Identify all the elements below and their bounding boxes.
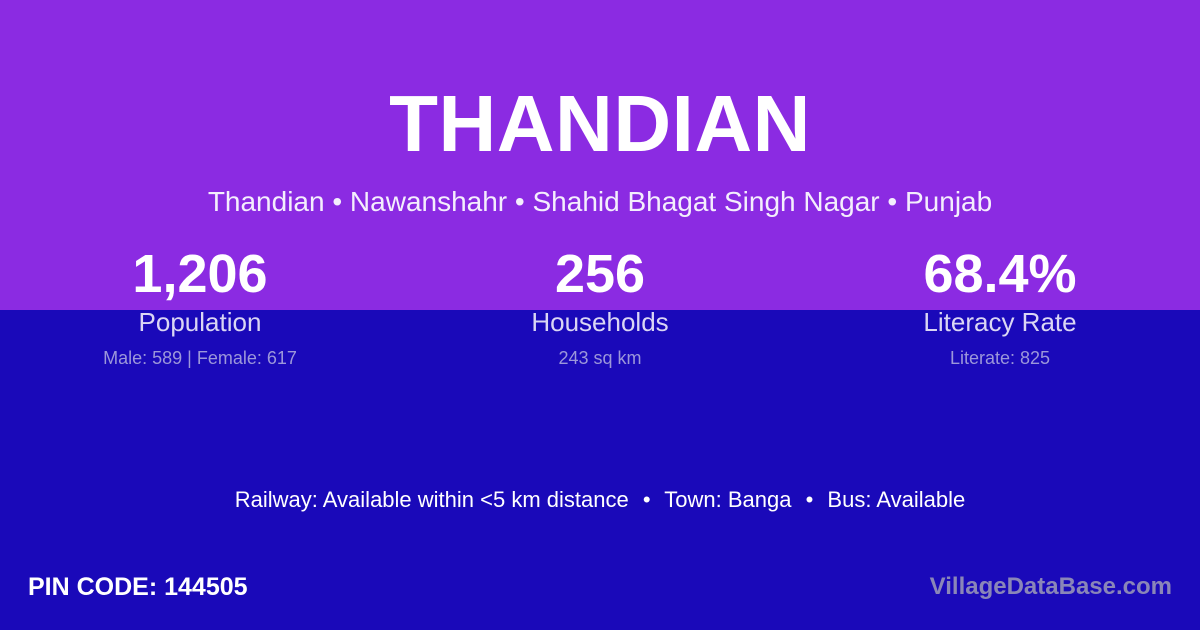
infrastructure-line: Railway: Available within <5 km distance… xyxy=(0,486,1200,514)
site-brand: VillageDataBase.com xyxy=(930,572,1172,602)
infra-bus: Bus: Available xyxy=(827,487,965,512)
infra-town: Town: Banga xyxy=(664,487,791,512)
infra-railway: Railway: Available within <5 km distance xyxy=(235,487,629,512)
stat-households: 256 Households 243 sq km xyxy=(400,243,800,369)
stat-literacy-rate: 68.4% Literacy Rate Literate: 825 xyxy=(800,243,1200,369)
stat-households-value: 256 xyxy=(400,243,800,305)
stat-literacy-rate-label: Literacy Rate xyxy=(800,305,1200,339)
header-section: THANDIAN Thandian • Nawanshahr • Shahid … xyxy=(0,0,1200,216)
stat-population-sub: Male: 589 | Female: 617 xyxy=(0,339,400,369)
stat-literacy-rate-value: 68.4% xyxy=(800,243,1200,305)
footer-section: PIN CODE: 144505 VillageDataBase.com xyxy=(0,558,1200,630)
breadcrumb: Thandian • Nawanshahr • Shahid Bhagat Si… xyxy=(0,164,1200,216)
infra-separator-1: • xyxy=(635,487,659,512)
stat-households-label: Households xyxy=(400,305,800,339)
infra-separator-2: • xyxy=(798,487,822,512)
village-info-card: THANDIAN Thandian • Nawanshahr • Shahid … xyxy=(0,0,1200,630)
stat-population-label: Population xyxy=(0,305,400,339)
pin-code: PIN CODE: 144505 xyxy=(28,572,248,602)
stat-population-value: 1,206 xyxy=(0,243,400,305)
stat-population: 1,206 Population Male: 589 | Female: 617 xyxy=(0,243,400,369)
page-title: THANDIAN xyxy=(0,0,1200,164)
stat-literacy-rate-sub: Literate: 825 xyxy=(800,339,1200,369)
stats-row: 1,206 Population Male: 589 | Female: 617… xyxy=(0,243,1200,369)
stat-households-sub: 243 sq km xyxy=(400,339,800,369)
